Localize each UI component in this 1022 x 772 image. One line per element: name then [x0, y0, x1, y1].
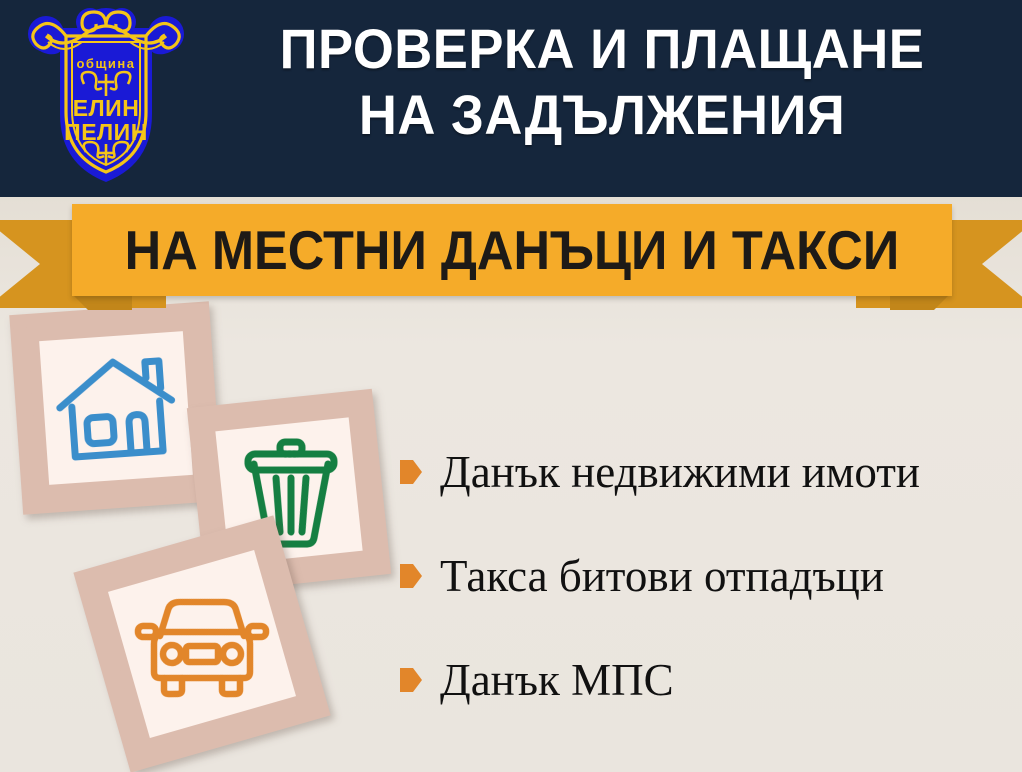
stamp-collage: [0, 290, 420, 772]
list-item-label: Такса битови отпадъци: [440, 551, 884, 601]
list-item-label: Данък МПС: [440, 655, 674, 705]
svg-text:ЕЛИН: ЕЛИН: [73, 95, 140, 121]
list-item[interactable]: Такса битови отпадъци: [400, 524, 1012, 628]
header-title-block: ПРОВЕРКА И ПЛАЩАНЕ НА ЗАДЪЛЖЕНИЯ: [190, 16, 1014, 148]
bullet-arrow-icon: [400, 564, 422, 588]
list-item-label: Данък недвижими имоти: [440, 447, 920, 497]
ribbon-band: НА МЕСТНИ ДАНЪЦИ И ТАКСИ: [72, 204, 952, 296]
poster-root: община ЕЛИН ПЕЛИН: [0, 0, 1022, 772]
header-bar: община ЕЛИН ПЕЛИН: [0, 0, 1022, 197]
municipality-logo: община ЕЛИН ПЕЛИН: [22, 6, 190, 192]
subtitle-ribbon: НА МЕСТНИ ДАНЪЦИ И ТАКСИ: [0, 198, 1022, 310]
tax-type-list: Данък недвижими имоти Такса битови отпад…: [400, 420, 1012, 732]
bullet-arrow-icon: [400, 668, 422, 692]
page-title-line-2: НА ЗАДЪЛЖЕНИЯ: [215, 82, 990, 148]
coat-of-arms-icon: община ЕЛИН ПЕЛИН: [22, 6, 190, 192]
header-inner: община ЕЛИН ПЕЛИН: [0, 0, 1022, 197]
list-item[interactable]: Данък недвижими имоти: [400, 420, 1012, 524]
page-title-line-1: ПРОВЕРКА И ПЛАЩАНЕ: [215, 16, 990, 82]
svg-text:ПЕЛИН: ПЕЛИН: [64, 119, 148, 145]
svg-text:община: община: [76, 56, 135, 71]
bullet-arrow-icon: [400, 460, 422, 484]
ribbon-label: НА МЕСТНИ ДАНЪЦИ И ТАКСИ: [125, 220, 900, 280]
list-item[interactable]: Данък МПС: [400, 628, 1012, 732]
